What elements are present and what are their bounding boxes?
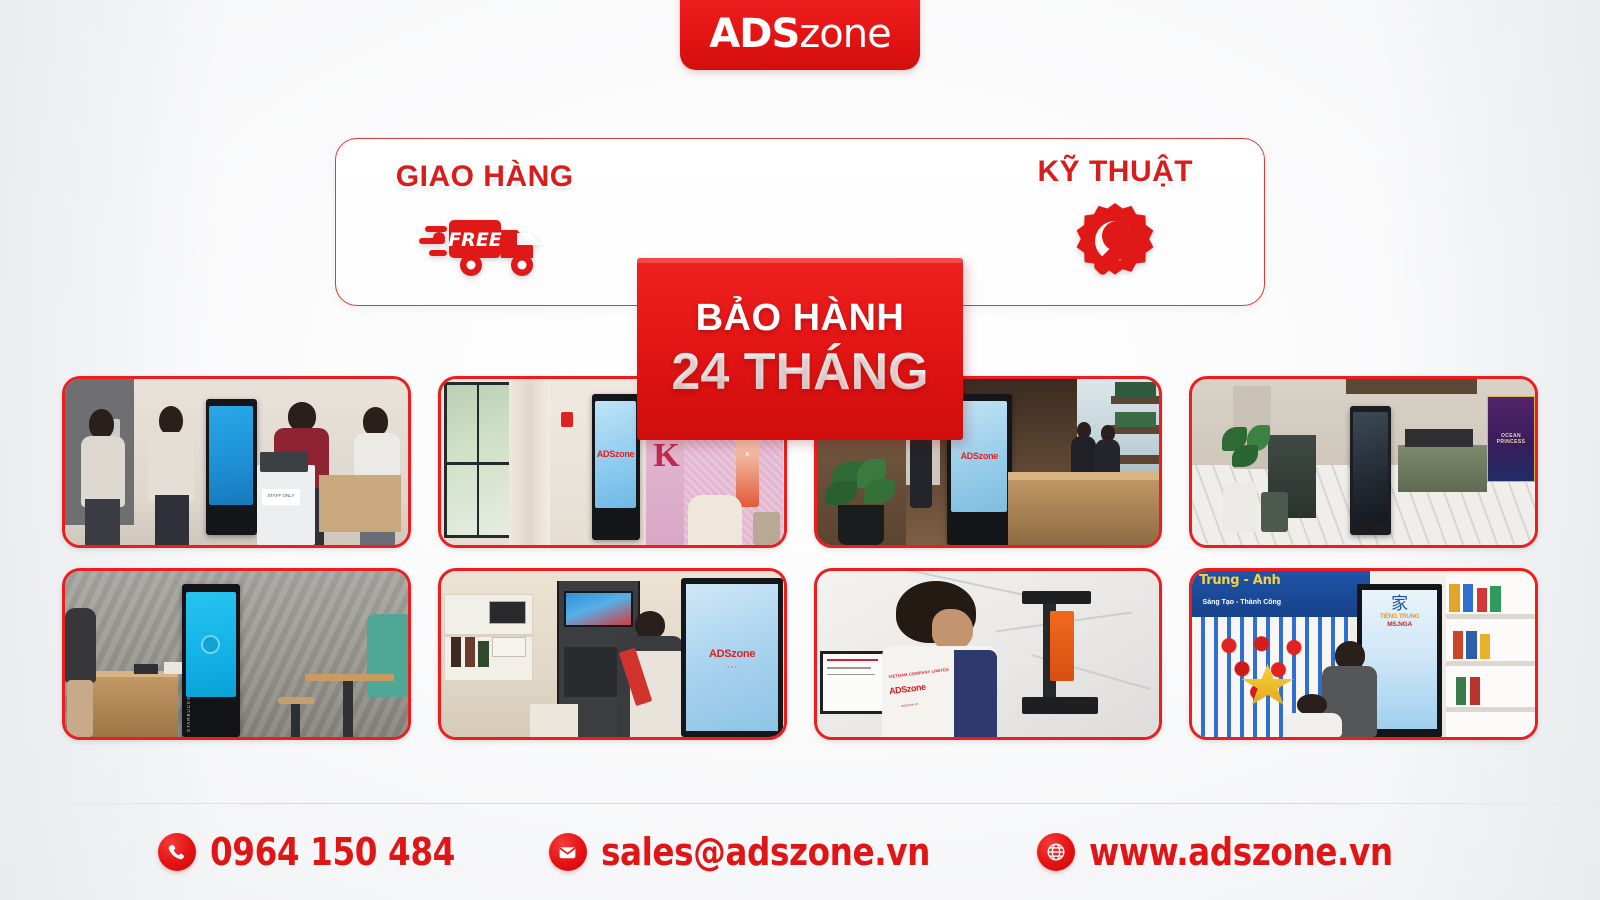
photo-technician-install: ADSzone ● ● ● [441, 571, 784, 737]
tile-6-screen-sub: ● ● ● [727, 665, 737, 669]
feature-strip: GIAO HÀNG FRE [335, 138, 1265, 306]
gallery-tile-office-staff-kiosk[interactable]: STAFF ONLY [62, 376, 411, 548]
photo-hotel-lobby-kiosk: OCEAN PRINCESS [1192, 379, 1535, 545]
photo-bookstore-display: Trung - Anh Sáng Tạo - Thành Công 家 TIẾN… [1192, 571, 1535, 737]
tile-2-poster-brand-letter: K [732, 452, 763, 458]
contact-phone-value: 0964 150 484 [210, 830, 455, 874]
tile-3-screen-label: ADSzone [961, 450, 998, 464]
contact-footer: 0964 150 484 sales@adszone.vn www.adszon… [0, 830, 1600, 874]
gallery-tile-wall-mount-install[interactable]: VIETNAM COMPANY LIMITED ADSzone adszone.… [814, 568, 1163, 740]
contact-phone[interactable]: 0964 150 484 [158, 830, 495, 874]
delivery-truck-icon: FREE [419, 202, 551, 285]
tile-8-poster-line2: MS.NGA [1387, 621, 1412, 628]
feature-delivery[interactable]: GIAO HÀNG FRE [336, 139, 633, 305]
photo-starbucks-screen: STARBUCKS [65, 571, 408, 737]
contact-email-value: sales@adszone.vn [601, 830, 930, 874]
brand-logo-tab[interactable]: ADSzone [680, 0, 920, 70]
tile-8-banner-sub: Sáng Tạo - Thành Công [1203, 599, 1368, 606]
contact-website[interactable]: www.adszone.vn [1037, 830, 1442, 874]
contact-email[interactable]: sales@adszone.vn [549, 830, 983, 874]
feature-warranty-card[interactable]: BẢO HÀNH 24 THÁNG [637, 258, 963, 440]
brand-logo-main: ADS [709, 11, 799, 57]
phone-icon [158, 833, 196, 871]
gallery-tile-starbucks-screen[interactable]: STARBUCKS [62, 568, 411, 740]
tile-8-poster-line1: TIẾNG TRUNG [1380, 614, 1419, 620]
gear-wrench-icon [1069, 197, 1161, 290]
photo-office-staff-kiosk: STAFF ONLY [65, 379, 408, 545]
feature-warranty-duration: 24 THÁNG [671, 342, 928, 402]
photo-wall-mount-install: VIETNAM COMPANY LIMITED ADSzone adszone.… [817, 571, 1160, 737]
email-icon [549, 833, 587, 871]
tile-6-screen-label: ADSzone [709, 646, 755, 663]
tile-8-banner-title: Trung - Anh [1199, 573, 1364, 588]
tile-5-screen-label: STARBUCKS [186, 696, 191, 732]
feature-technical[interactable]: KỸ THUẬT [967, 139, 1264, 305]
tile-8-poster-glyph: 家 [1391, 596, 1408, 613]
feature-technical-label: KỸ THUẬT [1037, 155, 1193, 189]
gallery-tile-bookstore-display[interactable]: Trung - Anh Sáng Tạo - Thành Công 家 TIẾN… [1189, 568, 1538, 740]
tile-2-screen-label: ADSzone [597, 448, 634, 462]
globe-icon [1037, 833, 1075, 871]
feature-delivery-label: GIAO HÀNG [396, 160, 574, 194]
feature-warranty-label: BẢO HÀNH [696, 297, 905, 340]
tile-2-poster-letter: K [653, 442, 679, 469]
brand-logo-accent: zone [799, 11, 890, 57]
footer-divider [0, 803, 1600, 804]
tile-4-poster-text: OCEAN PRINCESS [1490, 433, 1532, 445]
brand-logo-text: ADSzone [709, 7, 890, 57]
contact-website-value: www.adszone.vn [1089, 830, 1393, 874]
gallery-tile-technician-install[interactable]: ADSzone ● ● ● [438, 568, 787, 740]
tile-1-screen-label: STAFF ONLY [262, 489, 300, 506]
gallery-tile-hotel-lobby-kiosk[interactable]: OCEAN PRINCESS [1189, 376, 1538, 548]
delivery-free-badge: FREE [448, 229, 502, 251]
